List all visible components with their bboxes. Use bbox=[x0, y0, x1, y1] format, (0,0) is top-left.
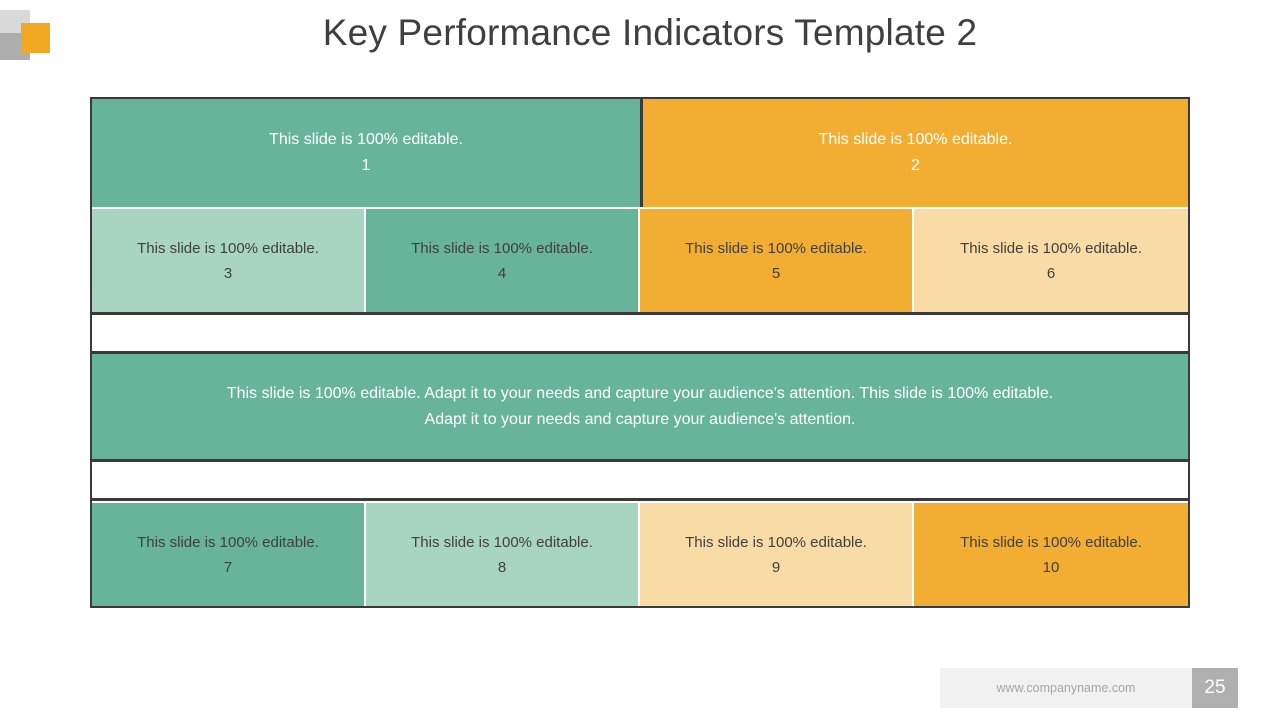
matrix-cell-6-text: This slide is 100% editable. bbox=[960, 236, 1142, 261]
matrix-cell-6[interactable]: This slide is 100% editable. 6 bbox=[914, 207, 1188, 312]
matrix-cell-4[interactable]: This slide is 100% editable. 4 bbox=[366, 207, 640, 312]
matrix-cell-10-number: 10 bbox=[1043, 555, 1060, 580]
matrix-cell-3[interactable]: This slide is 100% editable. 3 bbox=[92, 207, 366, 312]
matrix-cell-5-text: This slide is 100% editable. bbox=[685, 236, 867, 261]
matrix-cell-10[interactable]: This slide is 100% editable. 10 bbox=[914, 501, 1188, 606]
matrix-banner-cell[interactable]: This slide is 100% editable. Adapt it to… bbox=[92, 354, 1188, 459]
matrix-cell-3-number: 3 bbox=[224, 261, 232, 286]
matrix-cell-9-number: 9 bbox=[772, 555, 780, 580]
matrix-banner-row: This slide is 100% editable. Adapt it to… bbox=[92, 354, 1188, 459]
matrix-cell-10-text: This slide is 100% editable. bbox=[960, 530, 1142, 555]
matrix-cell-7[interactable]: This slide is 100% editable. 7 bbox=[92, 501, 366, 606]
matrix-cell-4-text: This slide is 100% editable. bbox=[411, 236, 593, 261]
logo-amber-square-icon bbox=[21, 23, 50, 53]
matrix-quad-row-2: This slide is 100% editable. 7 This slid… bbox=[92, 501, 1188, 606]
kpi-matrix: This slide is 100% editable. 1 This slid… bbox=[90, 97, 1190, 608]
matrix-cell-7-number: 7 bbox=[224, 555, 232, 580]
matrix-cell-9-text: This slide is 100% editable. bbox=[685, 530, 867, 555]
matrix-cell-1-number: 1 bbox=[362, 153, 371, 179]
footer-page-number: 25 bbox=[1192, 668, 1238, 708]
matrix-cell-7-text: This slide is 100% editable. bbox=[137, 530, 319, 555]
page-title: Key Performance Indicators Template 2 bbox=[120, 12, 1180, 54]
matrix-cell-9[interactable]: This slide is 100% editable. 9 bbox=[640, 501, 914, 606]
footer: www.companyname.com 25 bbox=[940, 668, 1238, 708]
matrix-banner-text: This slide is 100% editable. Adapt it to… bbox=[212, 381, 1068, 433]
matrix-spacer-row-top bbox=[92, 312, 1188, 354]
matrix-cell-6-number: 6 bbox=[1047, 261, 1055, 286]
matrix-cell-8[interactable]: This slide is 100% editable. 8 bbox=[366, 501, 640, 606]
matrix-spacer-row-bottom bbox=[92, 459, 1188, 501]
matrix-cell-5[interactable]: This slide is 100% editable. 5 bbox=[640, 207, 914, 312]
matrix-cell-5-number: 5 bbox=[772, 261, 780, 286]
matrix-quad-row-1: This slide is 100% editable. 3 This slid… bbox=[92, 207, 1188, 312]
matrix-cell-2-number: 2 bbox=[911, 153, 920, 179]
matrix-cell-2-text: This slide is 100% editable. bbox=[819, 127, 1013, 153]
matrix-cell-1-text: This slide is 100% editable. bbox=[269, 127, 463, 153]
matrix-header-row: This slide is 100% editable. 1 This slid… bbox=[92, 99, 1188, 207]
matrix-cell-1[interactable]: This slide is 100% editable. 1 bbox=[92, 99, 640, 207]
footer-website-url: www.companyname.com bbox=[940, 668, 1192, 708]
matrix-cell-3-text: This slide is 100% editable. bbox=[137, 236, 319, 261]
matrix-cell-4-number: 4 bbox=[498, 261, 506, 286]
matrix-cell-2[interactable]: This slide is 100% editable. 2 bbox=[640, 99, 1188, 207]
matrix-cell-8-text: This slide is 100% editable. bbox=[411, 530, 593, 555]
brand-logo bbox=[0, 10, 58, 62]
matrix-cell-8-number: 8 bbox=[498, 555, 506, 580]
